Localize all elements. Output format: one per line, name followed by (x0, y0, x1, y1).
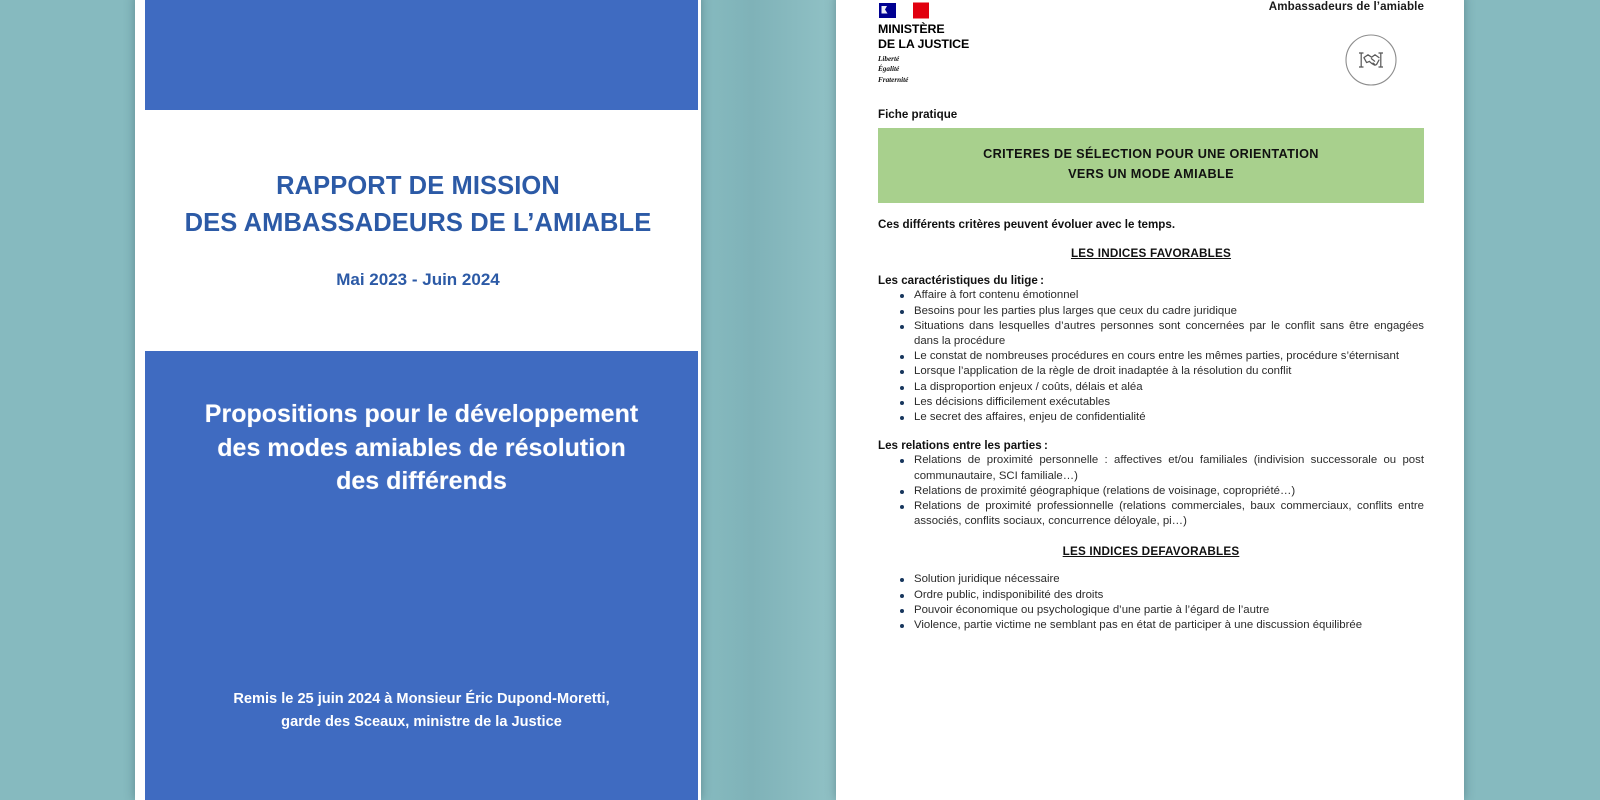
documents-stage: RAPPORT DE MISSION DES AMBASSADEURS DE L… (0, 0, 1600, 800)
list-item: La disproportion enjeux / coûts, délais … (914, 380, 1424, 395)
list-item: Relations de proximité professionnelle (… (914, 499, 1424, 529)
list-item: Violence, partie victime ne semblant pas… (914, 618, 1424, 633)
cover-subtitle-line1: Propositions pour le développement (181, 398, 662, 432)
banner-line1: CRITERES DE SÉLECTION POUR UNE ORIENTATI… (904, 145, 1398, 165)
criteria-list: Relations de proximité personnelle : aff… (878, 453, 1424, 529)
cover-band-top (145, 0, 698, 110)
group-title: Les relations entre les parties : (878, 439, 1424, 452)
section-heading-defavorables: LES INDICES DEFAVORABLES (878, 545, 1424, 558)
cover-dates: Mai 2023 - Juin 2024 (135, 270, 701, 290)
criteria-list: Affaire à fort contenu émotionnel Besoin… (878, 288, 1424, 425)
fiche-green-banner: CRITERES DE SÉLECTION POUR UNE ORIENTATI… (878, 128, 1424, 203)
list-item: Solution juridique nécessaire (914, 572, 1424, 587)
list-item: Ordre public, indisponibilité des droits (914, 588, 1424, 603)
cover-subtitle-line3: des différends (181, 465, 662, 499)
section-heading-favorables: LES INDICES FAVORABLES (878, 247, 1424, 260)
fiche-intro-text: Ces différents critères peuvent évoluer … (878, 218, 1424, 231)
french-flag-icon (879, 2, 929, 19)
cover-band-bottom: Propositions pour le développement des m… (145, 351, 698, 800)
cover-subtitle-line2: des modes amiables de résolution (181, 432, 662, 466)
list-item: Le constat de nombreuses procédures en c… (914, 349, 1424, 364)
motto-line3: Fraternité (878, 75, 998, 85)
ministry-name-line1: MINISTÈRE (878, 22, 998, 37)
fiche-header: MINISTÈRE DE LA JUSTICE Liberté Égalité … (878, 0, 1424, 104)
cover-subtitle: Propositions pour le développement des m… (181, 398, 662, 499)
list-item: Relations de proximité géographique (rel… (914, 484, 1424, 499)
report-cover-page[interactable]: RAPPORT DE MISSION DES AMBASSADEURS DE L… (135, 0, 701, 800)
cover-footer-line1: Remis le 25 juin 2024 à Monsieur Éric Du… (171, 688, 672, 711)
list-item: Le secret des affaires, enjeu de confide… (914, 410, 1424, 425)
ministry-name: MINISTÈRE DE LA JUSTICE (878, 22, 998, 51)
ministry-motto: Liberté Égalité Fraternité (878, 54, 998, 85)
cover-footer: Remis le 25 juin 2024 à Monsieur Éric Du… (171, 688, 672, 733)
fiche-pratique-label: Fiche pratique (878, 108, 1424, 121)
ministry-name-line2: DE LA JUSTICE (878, 37, 998, 52)
list-item: Lorsque l’application de la règle de dro… (914, 364, 1424, 379)
group-relations: Les relations entre les parties : Relati… (878, 439, 1424, 529)
fiche-header-title: Ambassadeurs de l’amiable (1269, 0, 1424, 13)
list-item: Situations dans lesquelles d’autres pers… (914, 319, 1424, 349)
cover-title: RAPPORT DE MISSION DES AMBASSADEURS DE L… (135, 168, 701, 242)
cover-title-line2: DES AMBASSADEURS DE L’AMIABLE (135, 205, 701, 242)
banner-line2: VERS UN MODE AMIABLE (904, 165, 1398, 185)
list-item: Affaire à fort contenu émotionnel (914, 288, 1424, 303)
ministry-logo: MINISTÈRE DE LA JUSTICE Liberté Égalité … (878, 2, 998, 85)
list-item: Les décisions difficilement exécutables (914, 395, 1424, 410)
cover-white-area: RAPPORT DE MISSION DES AMBASSADEURS DE L… (135, 110, 701, 351)
list-item: Besoins pour les parties plus larges que… (914, 304, 1424, 319)
handshake-circle-icon (1344, 33, 1398, 87)
list-item: Pouvoir économique ou psychologique d’un… (914, 603, 1424, 618)
group-title: Les caractéristiques du litige : (878, 274, 1424, 287)
fiche-pratique-page[interactable]: MINISTÈRE DE LA JUSTICE Liberté Égalité … (836, 0, 1464, 800)
motto-line1: Liberté (878, 54, 998, 64)
group-defavorables: LES INDICES DEFAVORABLES Solution juridi… (878, 545, 1424, 633)
group-caracteristiques: Les caractéristiques du litige : Affaire… (878, 274, 1424, 425)
cover-footer-line2: garde des Sceaux, ministre de la Justice (171, 711, 672, 734)
criteria-list: Solution juridique nécessaire Ordre publ… (878, 572, 1424, 633)
list-item: Relations de proximité personnelle : aff… (914, 453, 1424, 483)
cover-title-line1: RAPPORT DE MISSION (135, 168, 701, 205)
motto-line2: Égalité (878, 64, 998, 74)
